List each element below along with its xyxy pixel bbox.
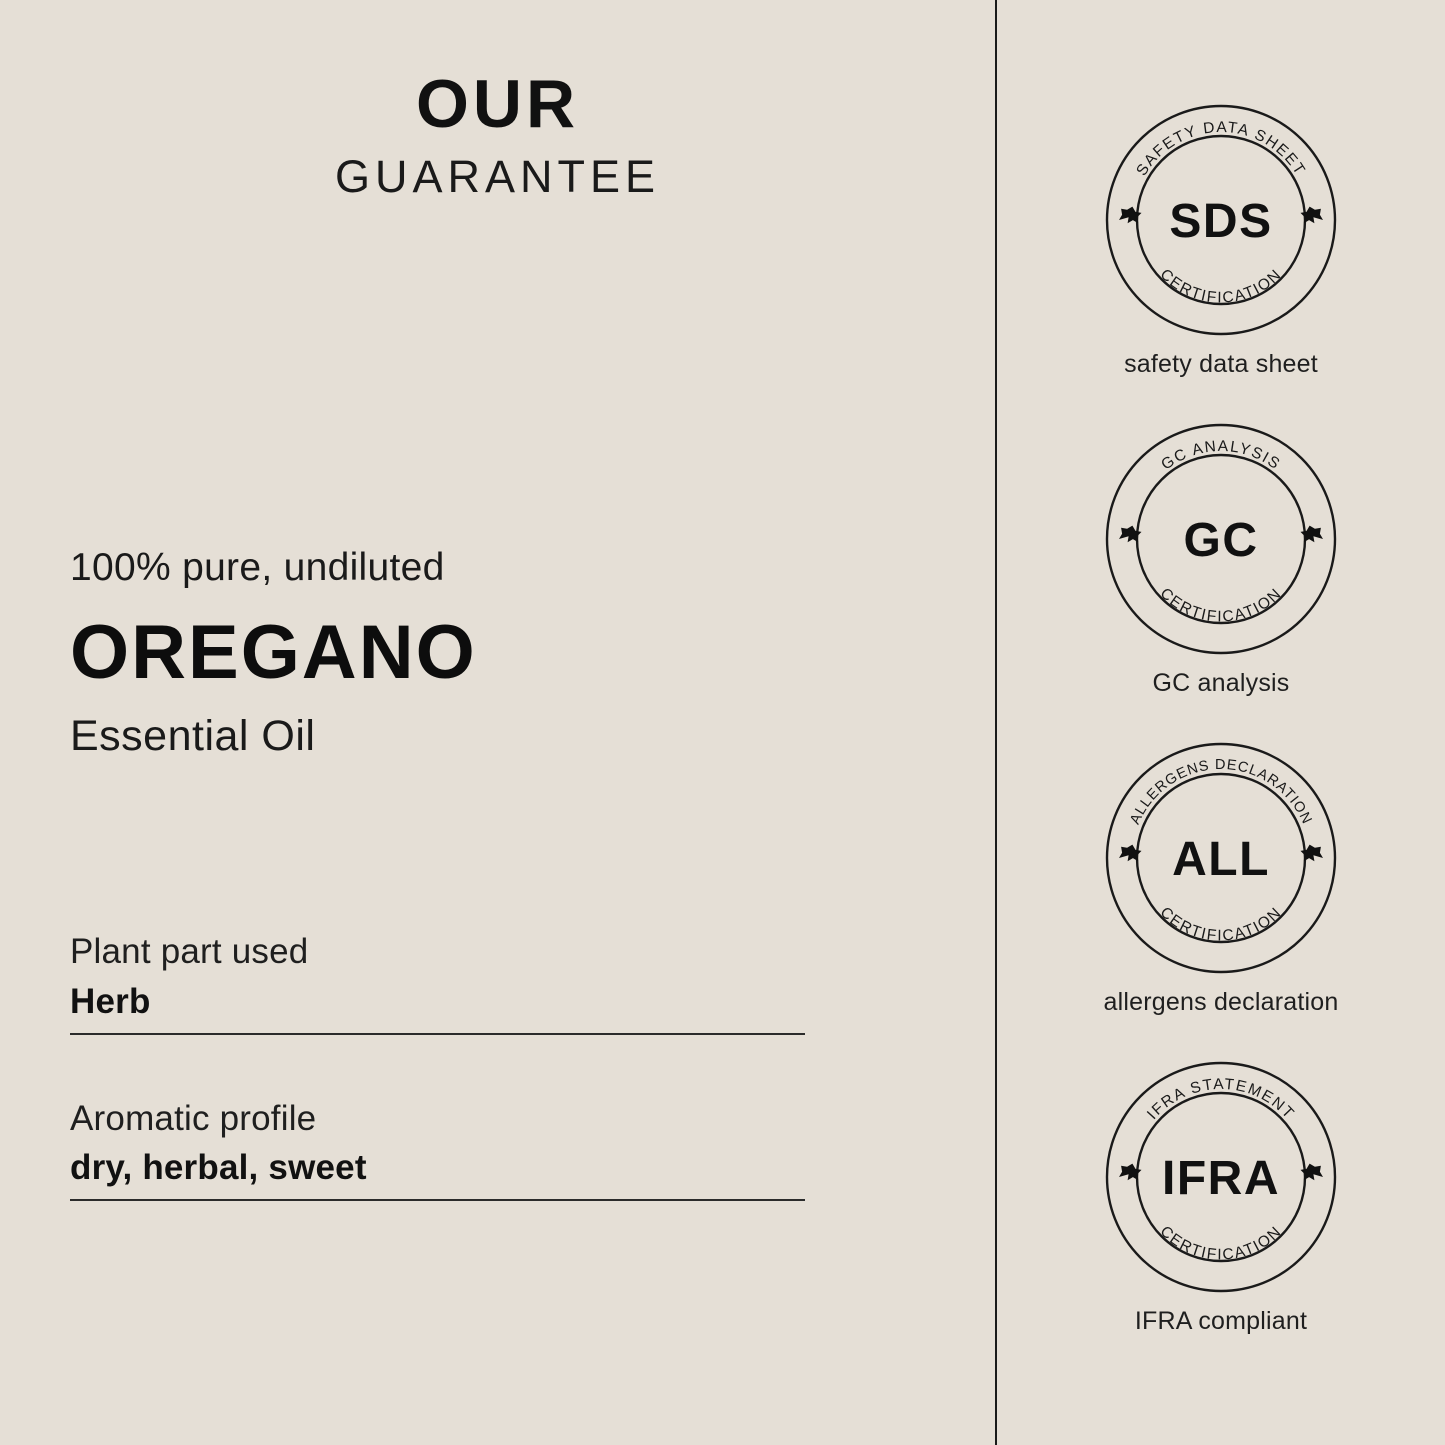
product-infographic-page: OUR GUARANTEE 100% pure, undiluted OREGA… [0,0,1445,1445]
seal-badge-icon: ALLERGENS DECLARATION CERTIFICATION ALL [1105,742,1337,974]
certifications-panel: SAFETY DATA SHEET CERTIFICATION SDS safe… [997,0,1445,1445]
page-title-line-2: GUARANTEE [0,154,995,199]
attribute-label: Plant part used [70,930,805,974]
seal-top-text: ALLERGENS DECLARATION [1127,757,1315,827]
certification-badge-allergens: ALLERGENS DECLARATION CERTIFICATION ALL … [997,742,1445,1017]
seal-center-text: ALL [1172,833,1270,886]
badge-caption: GC analysis [997,668,1445,698]
seal-bottom-text: CERTIFICATION [1157,585,1286,626]
attribute-value: dry, herbal, sweet [70,1146,805,1190]
badge-caption: IFRA compliant [997,1306,1445,1336]
seal-center-text: SDS [1169,195,1272,248]
badge-caption: safety data sheet [997,349,1445,379]
attribute-row-plant-part: Plant part used Herb [70,930,805,1035]
seal-badge-icon: SAFETY DATA SHEET CERTIFICATION SDS [1105,104,1337,336]
product-purity-text: 100% pure, undiluted [70,548,870,589]
certification-badge-ifra: IFRA STATEMENT CERTIFICATION IFRA IFRA c… [997,1061,1445,1336]
product-name: OREGANO [70,611,870,695]
seal-top-text: IFRA STATEMENT [1144,1076,1298,1123]
seal-bottom-text: CERTIFICATION [1157,904,1286,945]
seal-top-text: SAFETY DATA SHEET [1133,119,1308,179]
guarantee-panel: OUR GUARANTEE 100% pure, undiluted OREGA… [0,0,995,1445]
attribute-row-aromatic-profile: Aromatic profile dry, herbal, sweet [70,1097,805,1202]
certification-badge-list: SAFETY DATA SHEET CERTIFICATION SDS safe… [997,104,1445,1336]
seal-center-text: GC [1184,514,1259,567]
product-type: Essential Oil [70,713,870,760]
attribute-label: Aromatic profile [70,1097,805,1141]
seal-center-text: IFRA [1162,1152,1280,1205]
seal-badge-icon: IFRA STATEMENT CERTIFICATION IFRA [1105,1061,1337,1293]
certification-badge-gc: GC ANALYSIS CERTIFICATION GC GC analysis [997,423,1445,698]
seal-bottom-text: CERTIFICATION [1157,266,1286,307]
page-title: OUR GUARANTEE [0,70,995,199]
attribute-value: Herb [70,980,805,1024]
certification-badge-sds: SAFETY DATA SHEET CERTIFICATION SDS safe… [997,104,1445,379]
product-attributes: Plant part used Herb Aromatic profile dr… [70,930,805,1201]
seal-badge-icon: GC ANALYSIS CERTIFICATION GC [1105,423,1337,655]
product-identity: 100% pure, undiluted OREGANO Essential O… [70,548,870,760]
page-title-line-1: OUR [0,70,995,138]
badge-caption: allergens declaration [997,987,1445,1017]
seal-bottom-text: CERTIFICATION [1157,1223,1286,1264]
